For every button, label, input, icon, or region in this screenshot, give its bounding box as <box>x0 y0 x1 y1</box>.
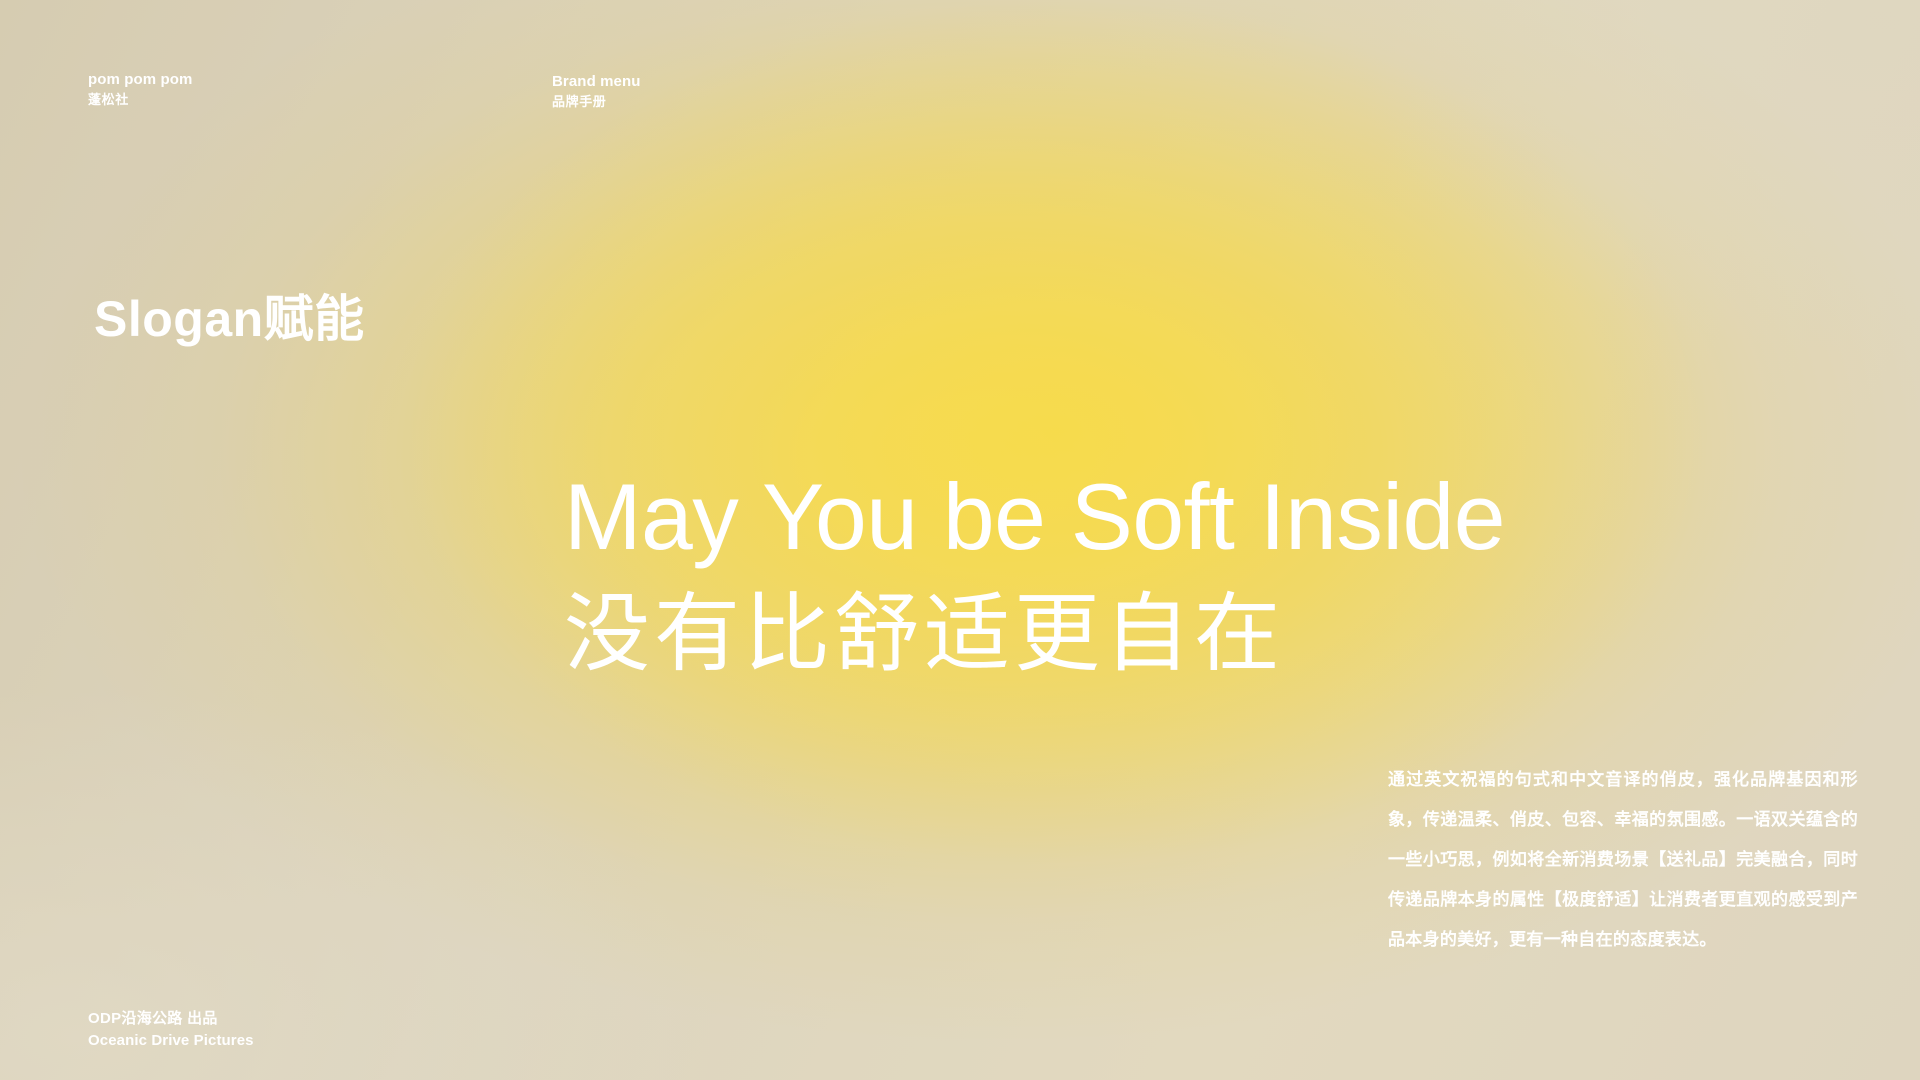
hero-headline-cn: 没有比舒适更自在 <box>564 584 1515 685</box>
brand-menu-label-cn: 品牌手册 <box>552 92 641 112</box>
brand-name-cn: 蓬松社 <box>88 90 192 110</box>
footer-credit-block: ODP沿海公路 出品 Oceanic Drive Pictures <box>88 1008 254 1052</box>
hero-headline-block: May You be Soft Inside 没有比舒适更自在 <box>564 470 1515 685</box>
description-paragraph: 通过英文祝福的句式和中文音译的俏皮，强化品牌基因和形象，传递温柔、俏皮、包容、幸… <box>1388 760 1858 960</box>
brand-menu-label-en: Brand menu <box>552 72 641 92</box>
brand-menu-link[interactable]: Brand menu 品牌手册 <box>552 72 641 112</box>
hero-headline-en: May You be Soft Inside <box>564 470 1505 564</box>
footer-credit-en: Oceanic Drive Pictures <box>88 1030 254 1052</box>
brand-name-en: pom pom pom <box>88 70 192 90</box>
brand-logo-block[interactable]: pom pom pom 蓬松社 <box>88 70 192 110</box>
section-title: Slogan赋能 <box>94 292 365 347</box>
brand-slogan-page: pom pom pom 蓬松社 Brand menu 品牌手册 Slogan赋能… <box>0 0 1920 1080</box>
footer-credit-cn: ODP沿海公路 出品 <box>88 1008 254 1030</box>
